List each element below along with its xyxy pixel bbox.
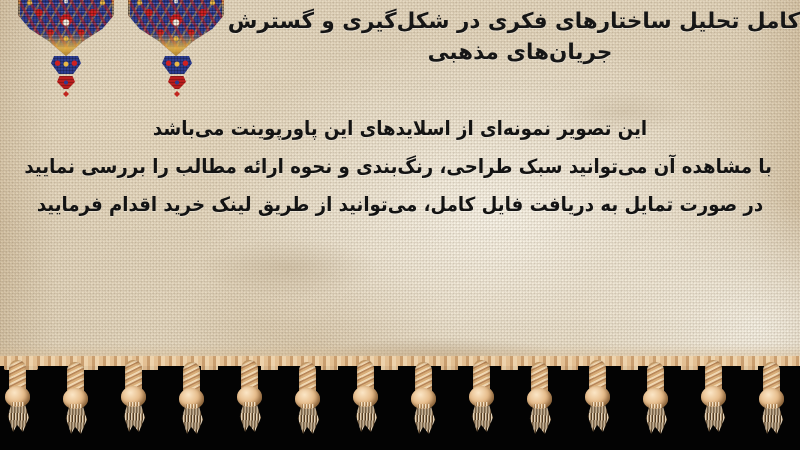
carpet-pendant-right-icon	[160, 56, 194, 102]
fringe-tassel	[228, 358, 272, 432]
fringe-tassel	[0, 358, 40, 432]
fringe-tassel	[170, 360, 214, 434]
slide-title-line-1: کامل تحلیل ساختارهای فکری در شکل‌گیری و …	[240, 6, 800, 37]
fringe-tassel	[402, 360, 446, 434]
fringe-tassel	[576, 358, 620, 432]
presentation-slide: کامل تحلیل ساختارهای فکری در شکل‌گیری و …	[0, 0, 800, 450]
slide-title: کامل تحلیل ساختارهای فکری در شکل‌گیری و …	[240, 6, 800, 68]
slide-title-line-2: جریان‌های مذهبی	[240, 37, 800, 68]
fringe-tassel	[286, 360, 330, 434]
carpet-pendant-left-icon	[49, 56, 83, 102]
carpet-medallion-right-icon	[128, 0, 224, 56]
slide-body-line-1: این تصویر نمونه‌ای از اسلایدهای این پاور…	[28, 110, 772, 148]
carpet-ornament-group	[0, 0, 240, 110]
fringe-tassel	[112, 358, 156, 432]
slide-body-line-3: در صورت تمایل به دریافت فایل کامل، می‌تو…	[28, 186, 772, 224]
fringe-tassel	[518, 360, 562, 434]
fringe-tassel	[692, 358, 736, 432]
slide-body-line-2: با مشاهده آن می‌توانید سبک طراحی، رنگ‌بن…	[28, 148, 772, 186]
carpet-medallion-left-icon	[18, 0, 114, 56]
fringe-tassel	[344, 358, 388, 432]
fringe-tassel	[634, 360, 678, 434]
fringe-tassel	[750, 360, 794, 434]
fringe-tassel	[460, 358, 504, 432]
carpet-fringe	[0, 356, 800, 436]
fringe-tassel	[54, 360, 98, 434]
slide-body-text: این تصویر نمونه‌ای از اسلایدهای این پاور…	[0, 110, 800, 224]
